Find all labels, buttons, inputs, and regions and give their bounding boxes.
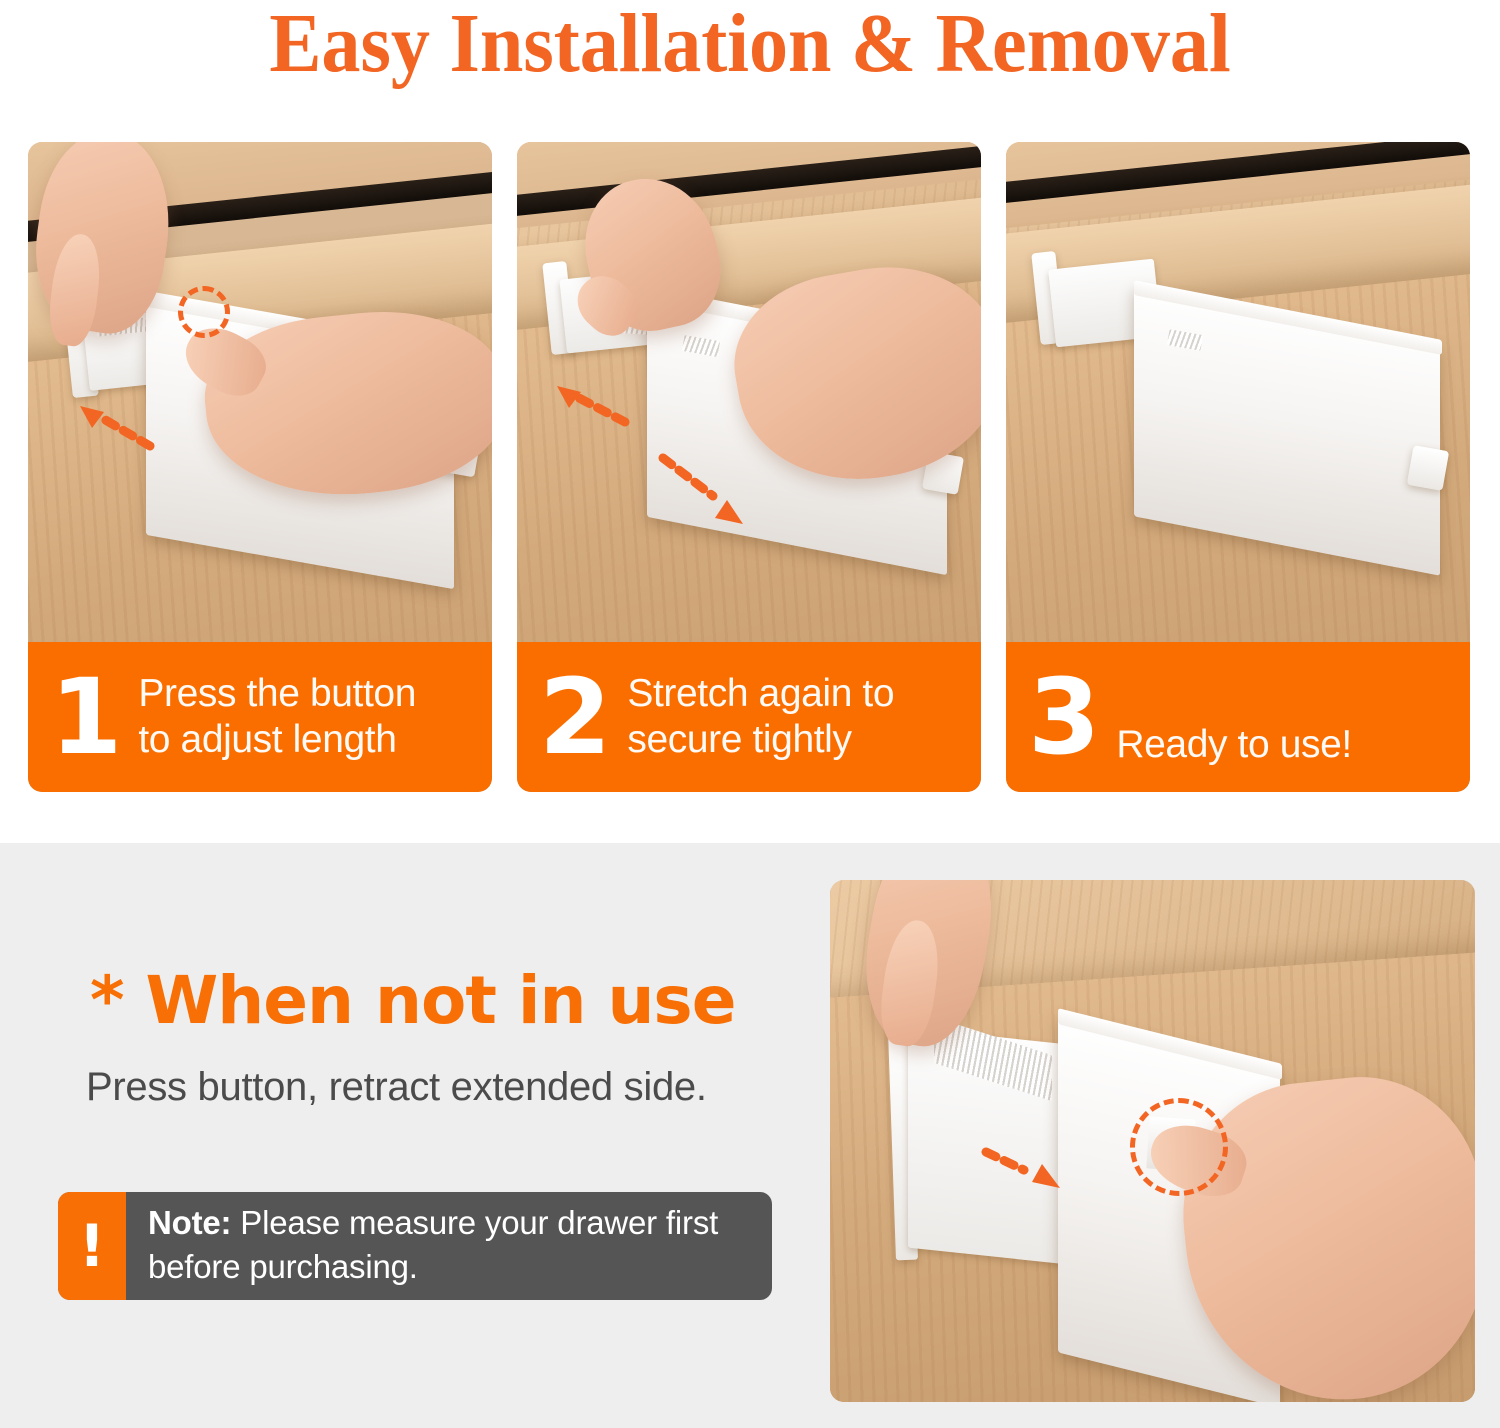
dashed-circle-on-release-button [178, 286, 230, 338]
retract-photo [830, 880, 1475, 1402]
retract-photo-scene [830, 880, 1475, 1402]
step-3-text: Ready to use! [1116, 722, 1351, 768]
note-label: Note: [148, 1204, 231, 1241]
installation-section: Easy Installation & Removal [0, 0, 1500, 843]
when-not-in-use-subtitle: Press button, retract extended side. [86, 1063, 707, 1111]
step-1-text: Press the button to adjust length [138, 671, 416, 763]
dashed-arrow-left [76, 404, 156, 454]
note-body: Please measure your drawer first before … [148, 1204, 718, 1285]
step-2-text: Stretch again to secure tightly [627, 671, 894, 763]
dashed-arrow-right [980, 1142, 1072, 1198]
step-3-number: 3 [1028, 665, 1098, 769]
note-text: Note: Please measure your drawer first b… [126, 1192, 772, 1300]
dashed-circle-on-release-button [1130, 1098, 1228, 1196]
step-3-caption: 3 Ready to use! [1006, 642, 1470, 792]
step-2-line2: secure tightly [627, 718, 851, 761]
step-2-line1: Stretch again to [627, 672, 894, 715]
step-2-caption: 2 Stretch again to secure tightly [517, 642, 981, 792]
step-1-caption: 1 Press the button to adjust length [28, 642, 492, 792]
page-title: Easy Installation & Removal [53, 0, 1448, 92]
steps-row: 1 Press the button to adjust length [28, 142, 1474, 792]
step-card-3: 3 Ready to use! [1006, 142, 1470, 792]
step-2-number: 2 [539, 665, 609, 769]
exclamation-icon: ! [58, 1192, 126, 1300]
divider-right-end-cap [1407, 445, 1449, 491]
step-card-2: 2 Stretch again to secure tightly [517, 142, 981, 792]
note-box: ! Note: Please measure your drawer first… [58, 1192, 772, 1300]
dashed-arrow-down-right [657, 452, 755, 532]
dashed-arrow-left [553, 384, 633, 430]
step-1-number: 1 [50, 665, 120, 769]
step-1-line2: to adjust length [138, 718, 396, 761]
when-not-in-use-heading: * When not in use [90, 965, 735, 1037]
step-1-line1: Press the button [138, 672, 416, 715]
step-card-1: 1 Press the button to adjust length [28, 142, 492, 792]
